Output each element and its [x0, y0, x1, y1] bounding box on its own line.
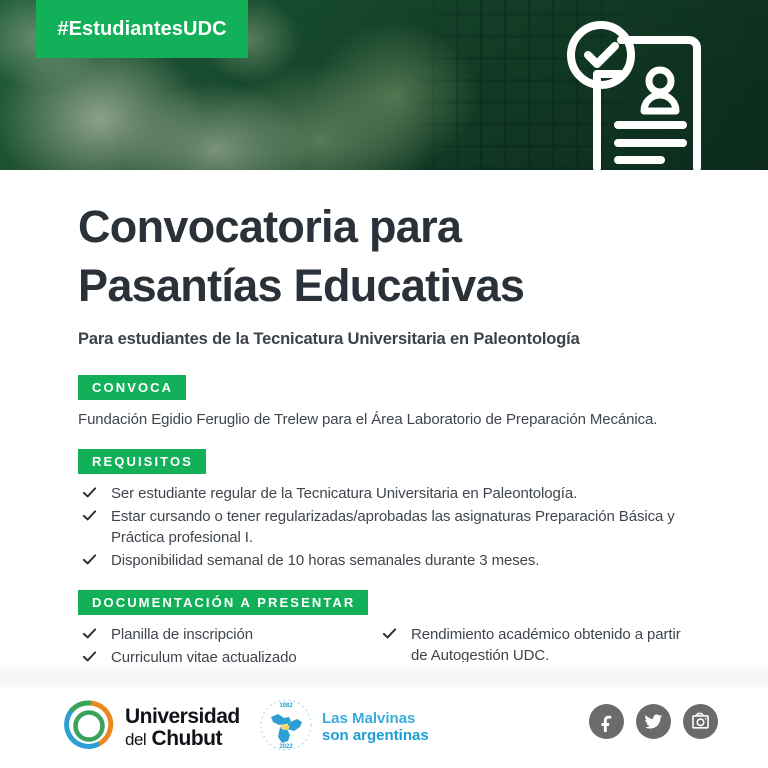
- section-requisitos: REQUISITOS Ser estudiante regular de la …: [78, 449, 690, 571]
- list-item-label: Disponibilidad semanal de 10 horas seman…: [111, 552, 539, 569]
- section-documentacion: DOCUMENTACIÓN A PRESENTAR Planilla de in…: [78, 590, 690, 670]
- malvinas-logo: 1982 2022 Las Malvinas son argentinas: [258, 697, 429, 758]
- instagram-icon[interactable]: [683, 704, 718, 739]
- tag-documentacion: DOCUMENTACIÓN A PRESENTAR: [78, 590, 368, 615]
- tag-convoca: CONVOCA: [78, 375, 186, 400]
- check-icon: [82, 626, 97, 641]
- check-icon: [82, 485, 97, 500]
- malvinas-line1: Las Malvinas: [322, 711, 429, 728]
- poster-canvas: #EstudiantesUDC Convocatoria pa: [0, 0, 768, 768]
- udc-logo-line2: del Chubut: [125, 728, 240, 749]
- twitter-icon[interactable]: [636, 704, 671, 739]
- list-item: Planilla de inscripción: [78, 624, 378, 645]
- udc-ring-icon: [62, 698, 116, 757]
- list-item: Rendimiento académico obtenido a partir …: [378, 624, 690, 666]
- list-item: Disponibilidad semanal de 10 horas seman…: [78, 550, 690, 571]
- malvinas-line2: son argentinas: [322, 728, 429, 745]
- tag-requisitos: REQUISITOS: [78, 449, 206, 474]
- udc-logo: Universidad del Chubut: [62, 698, 240, 757]
- list-item-label: Ser estudiante regular de la Tecnicatura…: [111, 485, 577, 502]
- udc-logo-del: del: [125, 730, 146, 749]
- udc-logo-chubut: Chubut: [152, 727, 222, 750]
- list-item-label: Estar cursando o tener regularizadas/apr…: [111, 508, 675, 546]
- page-subtitle: Para estudiantes de la Tecnicatura Unive…: [78, 330, 690, 349]
- malvinas-islands-icon: 1982 2022: [258, 697, 314, 758]
- malvinas-logo-text: Las Malvinas son argentinas: [322, 711, 429, 745]
- list-item-label: Planilla de inscripción: [111, 626, 253, 643]
- title-line-1: Convocatoria para: [78, 198, 690, 257]
- udc-logo-line1: Universidad: [125, 706, 240, 727]
- hero-banner: #EstudiantesUDC: [0, 0, 768, 170]
- page-title: Convocatoria para Pasantías Educativas: [78, 198, 690, 315]
- title-line-2: Pasantías Educativas: [78, 257, 690, 316]
- check-icon: [82, 552, 97, 567]
- section-convoca: CONVOCA Fundación Egidio Feruglio de Tre…: [78, 375, 690, 428]
- list-item: Ser estudiante regular de la Tecnicatura…: [78, 483, 690, 504]
- check-icon: [82, 508, 97, 523]
- udc-logo-text: Universidad del Chubut: [125, 706, 240, 749]
- list-item: Estar cursando o tener regularizadas/apr…: [78, 506, 690, 548]
- malvinas-year-bottom: 2022: [279, 744, 293, 750]
- requisitos-list: Ser estudiante regular de la Tecnicatura…: [78, 483, 690, 571]
- footer-divider: [0, 662, 768, 688]
- social-links: [589, 704, 718, 739]
- check-icon: [382, 626, 397, 641]
- certificate-icon: [561, 18, 706, 170]
- malvinas-year-top: 1982: [279, 703, 293, 709]
- poster-content: Convocatoria para Pasantías Educativas P…: [0, 170, 768, 708]
- hashtag-badge: #EstudiantesUDC: [36, 0, 248, 58]
- facebook-icon[interactable]: [589, 704, 624, 739]
- convoca-text: Fundación Egidio Feruglio de Trelew para…: [78, 411, 690, 428]
- list-item-label: Rendimiento académico obtenido a partir …: [411, 626, 681, 664]
- hashtag-label: #EstudiantesUDC: [57, 18, 226, 41]
